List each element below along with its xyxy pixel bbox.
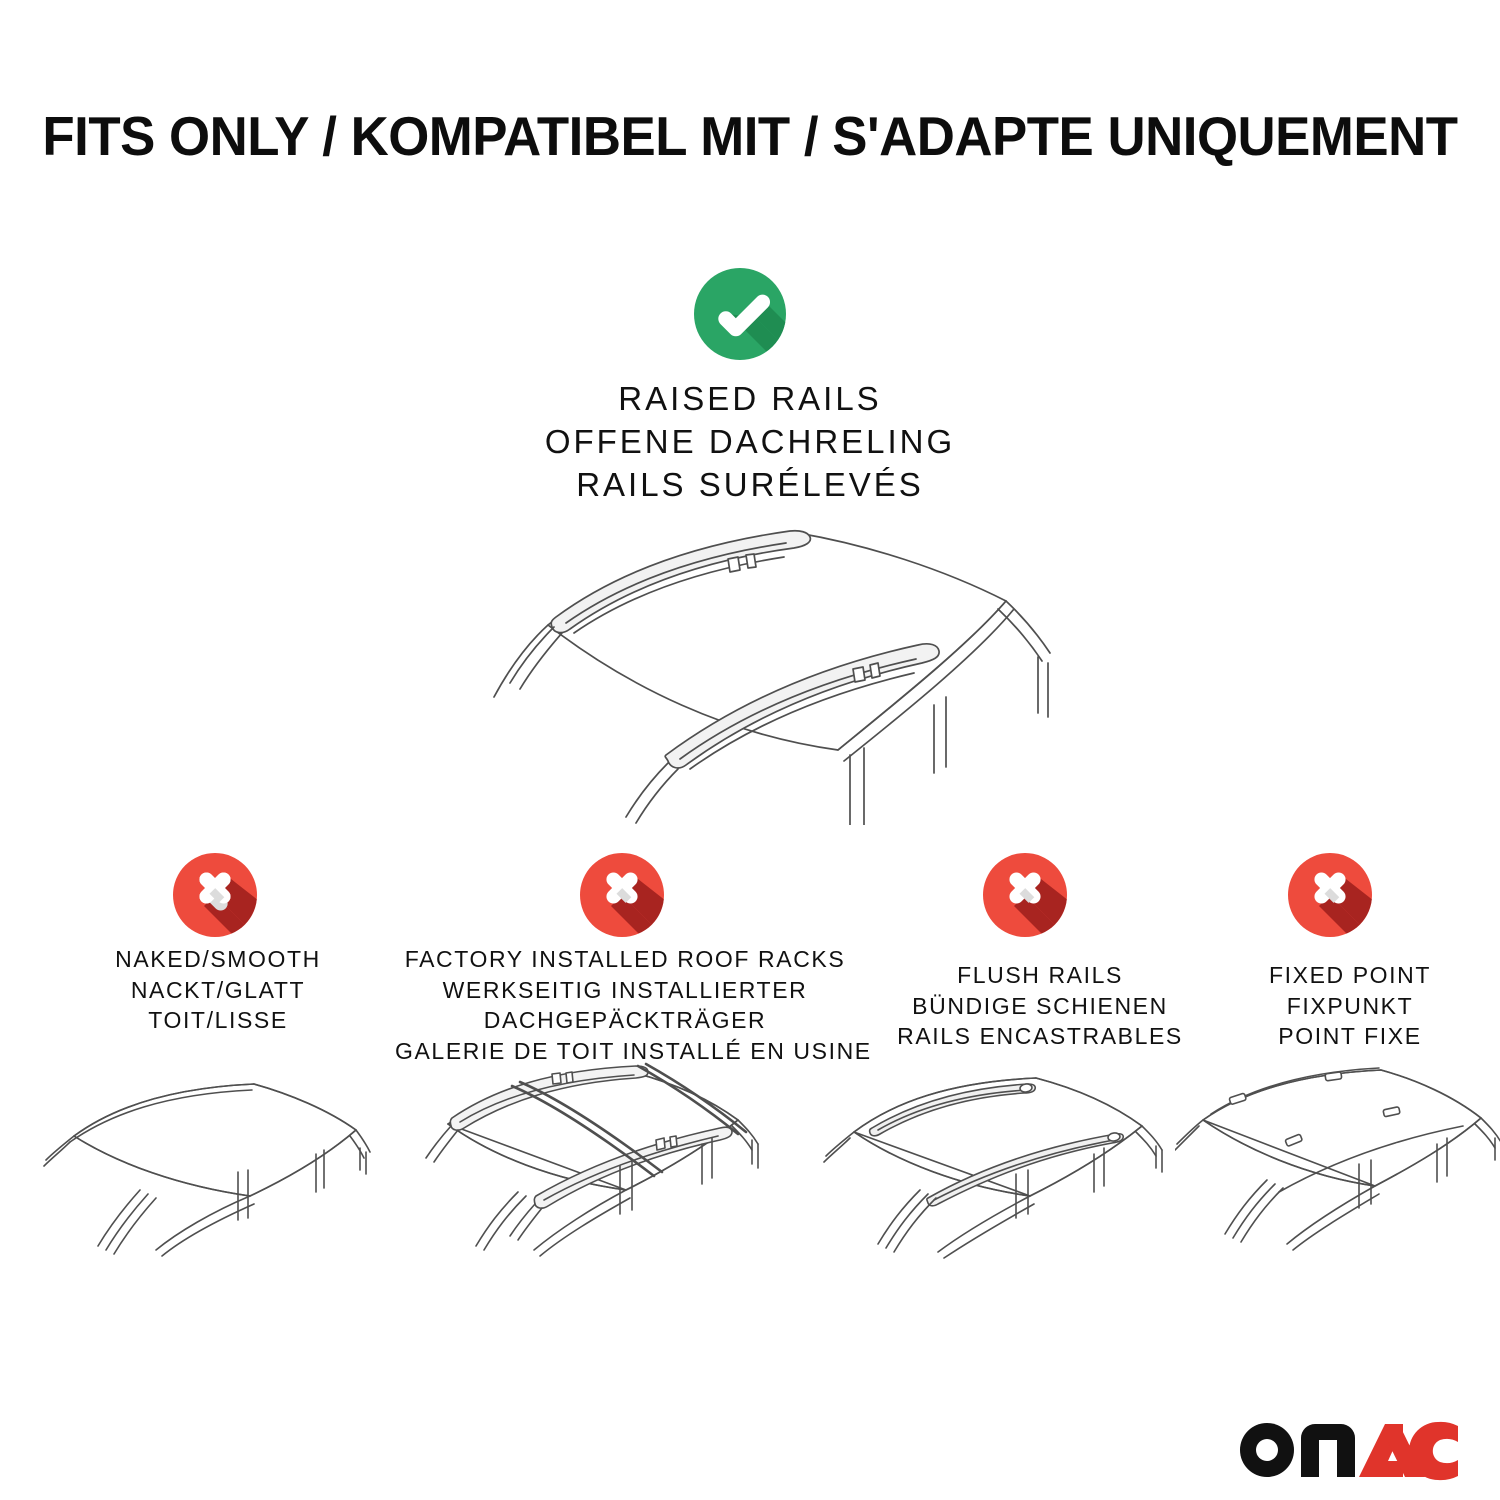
- page-title: FITS ONLY / KOMPATIBEL MIT / S'ADAPTE UN…: [30, 104, 1470, 168]
- label-line: WERKSEITIG INSTALLIERTER: [395, 975, 855, 1006]
- label-line: BÜNDIGE SCHIENEN: [860, 991, 1220, 1022]
- omac-logo: [1233, 1412, 1458, 1482]
- label-line: FLUSH RAILS: [860, 960, 1220, 991]
- incompatible-label-naked-smooth: NAKED/SMOOTH NACKT/GLATT TOIT/LISSE: [20, 944, 416, 1036]
- x-circle-icon-flush-rails: [978, 848, 1078, 948]
- car-roof-flush-rails-illustration: [820, 1062, 1200, 1312]
- x-circle-icon-fixed-point: [1283, 848, 1383, 948]
- label-line: RAILS ENCASTRABLES: [860, 1021, 1220, 1052]
- compatible-label: RAISED RAILS OFFENE DACHRELING RAILS SUR…: [250, 378, 1250, 507]
- label-line: FACTORY INSTALLED ROOF RACKS: [395, 944, 855, 975]
- label-line: DACHGEPÄCKTRÄGER: [395, 1005, 855, 1036]
- incompatible-label-fixed-point: FIXED POINT FIXPUNKT POINT FIXE: [1205, 960, 1495, 1052]
- car-roof-naked-smooth-illustration: [40, 1062, 410, 1312]
- car-roof-factory-roof-racks-illustration: [408, 1062, 788, 1312]
- label-line: POINT FIXE: [1205, 1021, 1495, 1052]
- compatible-label-line-3: RAILS SURÉLEVÉS: [250, 464, 1250, 507]
- x-circle-icon-naked-smooth: [168, 848, 268, 948]
- incompatible-label-factory-roof-racks: FACTORY INSTALLED ROOF RACKS WERKSEITIG …: [395, 944, 855, 1066]
- label-line: FIXPUNKT: [1205, 991, 1495, 1022]
- compatible-label-line-1: RAISED RAILS: [250, 378, 1250, 421]
- label-line: NAKED/SMOOTH: [20, 944, 416, 975]
- label-line: NACKT/GLATT: [20, 975, 416, 1006]
- incompatible-label-flush-rails: FLUSH RAILS BÜNDIGE SCHIENEN RAILS ENCAS…: [860, 960, 1220, 1052]
- label-line: TOIT/LISSE: [20, 1005, 416, 1036]
- car-roof-raised-rails-illustration: [398, 505, 1108, 825]
- logo-letter-o: [1240, 1423, 1294, 1477]
- check-circle-icon: [688, 262, 798, 372]
- car-roof-fixed-point-illustration: [1175, 1062, 1500, 1312]
- logo-letter-m: [1301, 1424, 1355, 1477]
- label-line: FIXED POINT: [1205, 960, 1495, 991]
- x-circle-icon-factory-roof-racks: [575, 848, 675, 948]
- compatible-label-line-2: OFFENE DACHRELING: [250, 421, 1250, 464]
